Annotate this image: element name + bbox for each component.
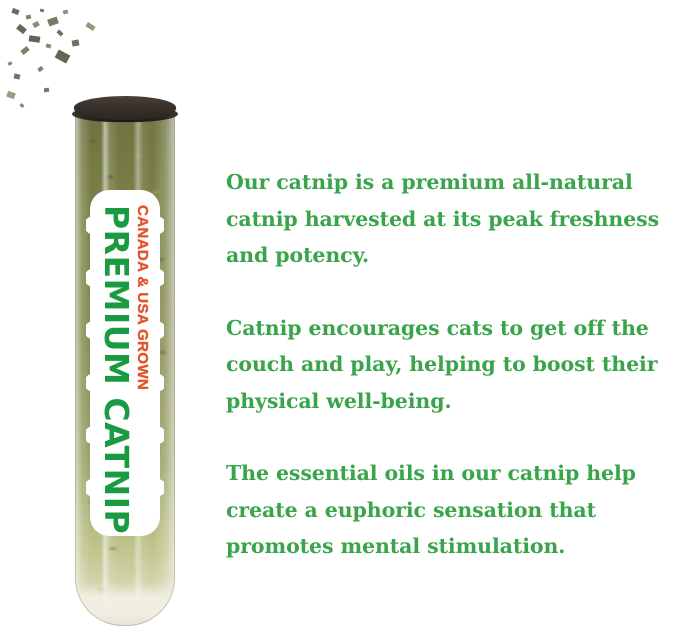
copy-paragraph-3: The essential oils in our catnip help cr…: [226, 455, 679, 565]
copy-paragraph-1: Our catnip is a premium all-natural catn…: [226, 164, 679, 274]
catnip-flake: [32, 21, 40, 28]
catnip-flake: [20, 103, 25, 108]
catnip-flake: [55, 49, 71, 63]
catnip-flake: [29, 35, 41, 42]
catnip-flake: [44, 88, 50, 93]
catnip-flake: [26, 14, 32, 19]
label-text-group: CANADA & USA GROWN PREMIUM CATNIP: [93, 193, 157, 533]
catnip-flake: [8, 61, 13, 65]
catnip-flake: [11, 8, 19, 15]
catnip-flake: [6, 91, 16, 99]
label-subtitle: CANADA & USA GROWN: [135, 205, 150, 533]
catnip-flake: [20, 46, 29, 55]
catnip-flake: [40, 9, 45, 13]
tube-cap: [74, 96, 176, 120]
catnip-flake: [37, 66, 43, 72]
catnip-flake: [71, 39, 79, 46]
tube-bottom: [75, 582, 175, 626]
catnip-flake: [47, 17, 59, 27]
catnip-flake: [56, 29, 63, 36]
catnip-flake: [63, 9, 69, 14]
catnip-flake: [85, 22, 95, 31]
marketing-copy: Our catnip is a premium all-natural catn…: [226, 164, 679, 565]
catnip-tube: CANADA & USA GROWN PREMIUM CATNIP: [70, 96, 180, 630]
catnip-flake: [16, 24, 27, 34]
catnip-flake: [13, 73, 20, 79]
label-title: PREMIUM CATNIP: [100, 205, 133, 533]
product-label: CANADA & USA GROWN PREMIUM CATNIP: [93, 193, 157, 533]
copy-paragraph-2: Catnip encourages cats to get off the co…: [226, 310, 679, 420]
catnip-flake: [46, 43, 52, 48]
